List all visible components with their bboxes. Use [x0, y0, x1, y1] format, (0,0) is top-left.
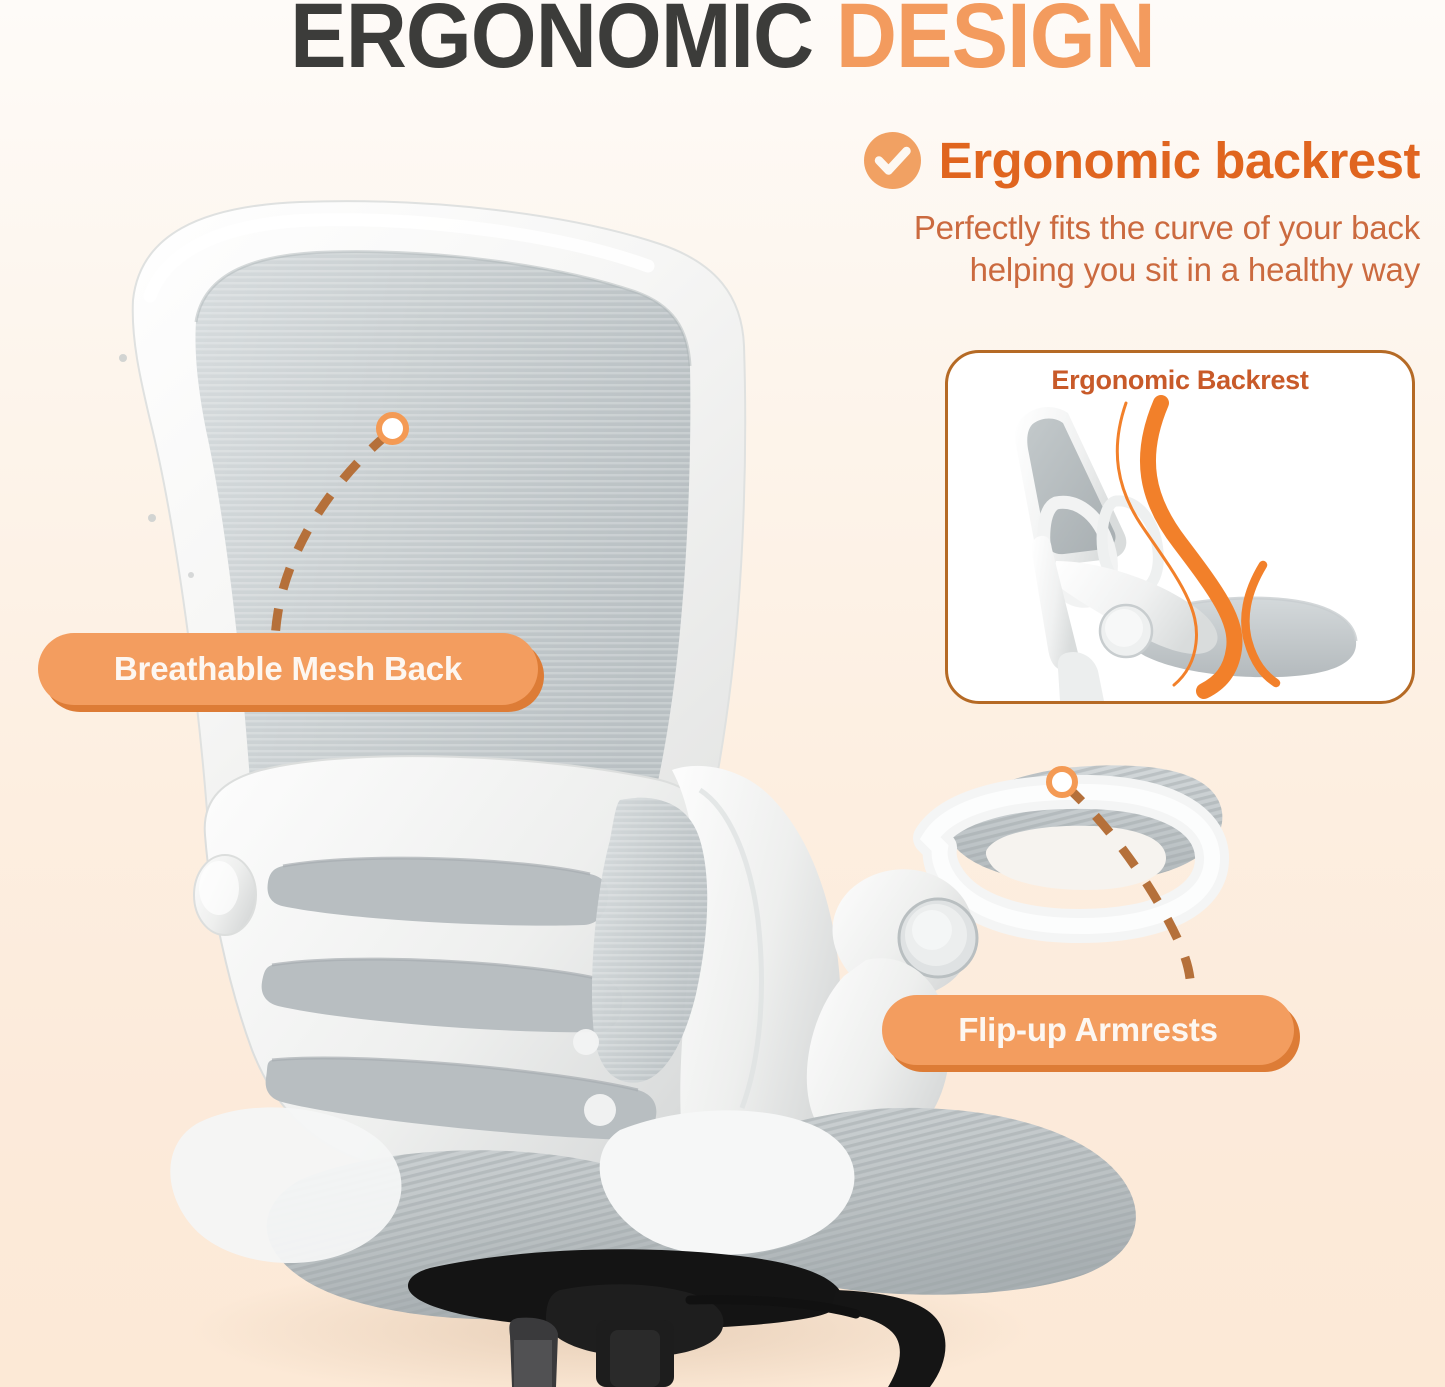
- ergonomic-backrest-card: Ergonomic Backrest: [945, 350, 1415, 704]
- product-feature-image: ERGONOMIC DESIGN Ergonomic backrest Perf…: [0, 0, 1445, 1387]
- check-circle-icon: [864, 132, 921, 189]
- callout-dot-armrests: [1046, 766, 1078, 798]
- callout-label-flip-up-armrests[interactable]: Flip-up Armrests: [882, 995, 1294, 1065]
- headline-row: Ergonomic backrest: [690, 132, 1420, 189]
- subtext-line-2: helping you sit in a healthy way: [690, 249, 1420, 291]
- subtext-line-1: Perfectly fits the curve of your back: [690, 207, 1420, 249]
- headline-block: Ergonomic backrest Perfectly fits the cu…: [690, 132, 1420, 290]
- callout-dot-mesh-back: [376, 412, 409, 445]
- backrest-side-view-illustration: [948, 353, 1412, 701]
- title-part-2: DESIGN: [836, 0, 1155, 87]
- title-part-1: ERGONOMIC: [290, 0, 813, 87]
- headline-text: Ergonomic backrest: [939, 134, 1420, 188]
- callout-label-breathable-mesh-back[interactable]: Breathable Mesh Back: [38, 633, 538, 705]
- page-title: ERGONOMIC DESIGN: [58, 0, 1387, 82]
- headline-subtext: Perfectly fits the curve of your back he…: [690, 207, 1420, 290]
